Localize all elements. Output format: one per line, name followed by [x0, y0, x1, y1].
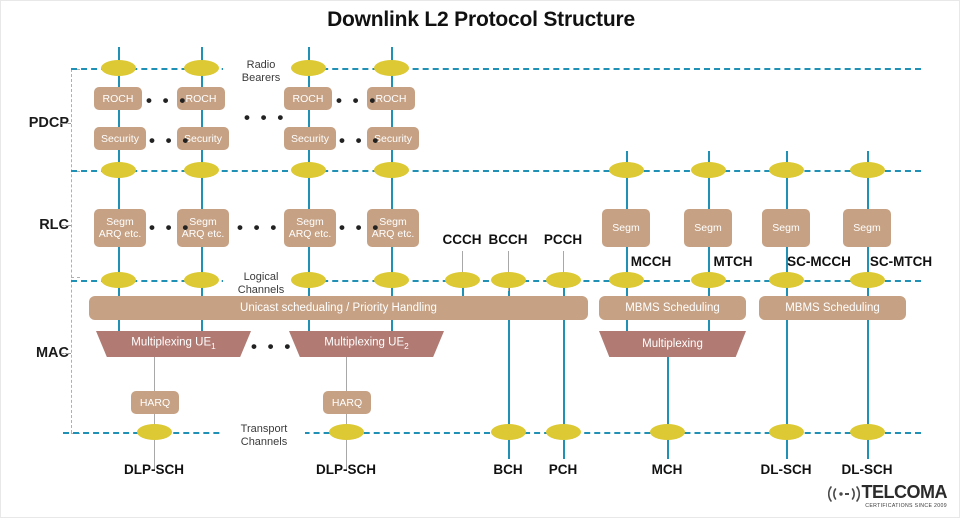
connector-line	[667, 357, 669, 433]
ellipsis-roch-ue2: • • •	[336, 96, 378, 106]
connector-line	[201, 109, 203, 127]
sap-logical-channel	[184, 272, 219, 288]
layer-label-rlc: RLC	[9, 217, 69, 233]
sap-radio-bearer	[374, 60, 409, 76]
rlc-segm-box: Segm	[684, 209, 732, 247]
layer-tick-mac	[61, 353, 71, 354]
logical-channel-label-mtch: MTCH	[703, 254, 763, 269]
ellipsis-mac-between-ues: • • •	[251, 342, 293, 352]
sap-transport-channel	[546, 424, 581, 440]
transport-channel-label-mch: MCH	[637, 462, 697, 477]
logical-channel-label-pcch: PCCH	[533, 232, 593, 247]
connector-line	[867, 313, 869, 433]
pdcp-roch-box: ROCH	[284, 87, 332, 110]
rlc-segm-line2: ARQ etc.	[99, 228, 142, 240]
connector-line	[201, 149, 203, 209]
interface-label-line2: Bearers	[242, 72, 281, 84]
sap-logical-channel	[691, 272, 726, 288]
rlc-segm-arq-box: Segm ARQ etc.	[284, 209, 336, 247]
mac-mbms-scheduling-bar: MBMS Scheduling	[759, 296, 906, 320]
pdcp-security-box: Security	[94, 127, 146, 150]
rlc-segm-line1: Segm	[379, 216, 406, 228]
sap-transport-channel	[650, 424, 685, 440]
sap-pdcp-rlc	[374, 162, 409, 178]
ellipsis-security-ue1: • • •	[149, 136, 191, 146]
logo-brand: TELCOMA	[862, 482, 948, 502]
transport-channel-label-dlp-sch: DLP-SCH	[114, 462, 194, 477]
rlc-segm-line1: Segm	[296, 216, 323, 228]
transport-channel-label-dl-sch: DL-SCH	[827, 462, 907, 477]
interface-label-line2: Channels	[238, 284, 284, 296]
interface-label-line1: Logical	[244, 271, 279, 283]
signal-wave-icon	[828, 484, 860, 509]
transport-channel-label-dlp-sch: DLP-SCH	[306, 462, 386, 477]
logo-tagline: CERTIFICATIONS SINCE 2009	[862, 503, 948, 509]
rlc-segm-arq-box: Segm ARQ etc.	[94, 209, 146, 247]
connector-line	[118, 109, 120, 127]
pdcp-roch-box: ROCH	[94, 87, 142, 110]
sap-pdcp-rlc	[291, 162, 326, 178]
interface-label-line2: Channels	[241, 436, 287, 448]
sap-radio-bearer	[101, 60, 136, 76]
connector-line-gray	[154, 357, 155, 393]
connector-line	[626, 151, 628, 209]
logical-channel-label-bcch: BCCH	[478, 232, 538, 247]
transport-channel-label-bch: BCH	[478, 462, 538, 477]
sap-logical-channel	[609, 272, 644, 288]
multiplexing-ue2-label: Multiplexing UE	[324, 337, 404, 349]
sap-logical-channel	[101, 272, 136, 288]
layer-tick-pdcp	[61, 123, 71, 124]
rlc-segm-line1: Segm	[106, 216, 133, 228]
layer-bracket-nub-rlc-mac	[71, 277, 80, 278]
rlc-segm-box: Segm	[843, 209, 891, 247]
transport-channel-label-pch: PCH	[533, 462, 593, 477]
connector-line	[391, 149, 393, 209]
layer-label-pdcp: PDCP	[9, 115, 69, 131]
sap-radio-bearer	[184, 60, 219, 76]
interface-label-line1: Radio	[247, 59, 276, 71]
logical-channel-label-sc-mtch: SC-MTCH	[861, 254, 941, 269]
interface-label-logical-channels: Logical Channels	[223, 271, 299, 296]
mac-multiplexing-ue1: Multiplexing UE1	[96, 331, 251, 357]
multiplexing-ue1-label: Multiplexing UE	[131, 337, 211, 349]
sap-logical-channel	[850, 272, 885, 288]
multiplexing-mbms-label: Multiplexing	[642, 338, 703, 350]
sap-radio-bearer	[291, 60, 326, 76]
telcoma-logo: TELCOMA CERTIFICATIONS SINCE 2009	[828, 484, 948, 509]
transport-channel-label-dl-sch: DL-SCH	[746, 462, 826, 477]
sap-pdcp-rlc	[769, 162, 804, 178]
mac-mbms-scheduling-bar: MBMS Scheduling	[599, 296, 746, 320]
sap-transport-channel	[329, 424, 364, 440]
sap-pdcp-rlc	[184, 162, 219, 178]
rlc-segm-line2: ARQ etc.	[289, 228, 332, 240]
mac-harq-box: HARQ	[323, 391, 371, 414]
ellipsis-roch-ue1: • • •	[146, 96, 188, 106]
sap-pdcp-rlc	[691, 162, 726, 178]
connector-line	[308, 109, 310, 127]
connector-line	[563, 313, 565, 433]
page-title: Downlink L2 Protocol Structure	[1, 8, 960, 32]
sap-logical-channel	[445, 272, 480, 288]
mac-multiplexing-ue2: Multiplexing UE2	[289, 331, 444, 357]
ellipsis-rlc-ue2: • • •	[339, 223, 381, 233]
sap-logical-channel	[546, 272, 581, 288]
sap-pdcp-rlc	[609, 162, 644, 178]
rlc-segm-line1: Segm	[189, 216, 216, 228]
connector-line	[118, 149, 120, 209]
interface-label-radio-bearers: Radio Bearers	[223, 59, 299, 84]
connector-line	[786, 313, 788, 433]
layer-label-mac: MAC	[9, 345, 69, 361]
sap-logical-channel	[374, 272, 409, 288]
pdcp-security-box: Security	[284, 127, 336, 150]
rlc-segm-box: Segm	[762, 209, 810, 247]
interface-label-transport-channels: Transport Channels	[223, 423, 305, 448]
connector-line	[708, 151, 710, 209]
sap-transport-channel	[137, 424, 172, 440]
ellipsis-rlc-between-ues: • • •	[237, 223, 279, 233]
sap-pdcp-rlc	[850, 162, 885, 178]
diagram-canvas: Downlink L2 Protocol Structure PDCP RLC …	[0, 0, 960, 518]
sap-transport-channel	[769, 424, 804, 440]
sap-pdcp-rlc	[101, 162, 136, 178]
ellipsis-security-ue2: • • •	[339, 136, 381, 146]
sap-logical-channel	[291, 272, 326, 288]
logical-channel-label-mcch: MCCH	[621, 254, 681, 269]
connector-line-gray	[346, 357, 347, 393]
connector-line	[867, 151, 869, 209]
mac-unicast-scheduling-bar: Unicast schedualing / Priority Handling	[89, 296, 588, 320]
connector-line	[308, 149, 310, 209]
sap-logical-channel	[491, 272, 526, 288]
layer-tick-rlc	[61, 225, 71, 226]
sap-transport-channel	[850, 424, 885, 440]
mac-multiplexing-mbms: Multiplexing	[599, 331, 746, 357]
interface-label-line1: Transport	[241, 423, 288, 435]
ellipsis-pdcp-between-ues: • • •	[244, 113, 286, 123]
sap-transport-channel	[491, 424, 526, 440]
mac-harq-box: HARQ	[131, 391, 179, 414]
rlc-segm-box: Segm	[602, 209, 650, 247]
layer-bracket-line	[71, 69, 72, 433]
connector-line	[391, 109, 393, 127]
logical-channel-label-sc-mcch: SC-MCCH	[779, 254, 859, 269]
logo-text-block: TELCOMA CERTIFICATIONS SINCE 2009	[862, 484, 948, 509]
connector-line	[786, 151, 788, 209]
ellipsis-rlc-ue1: • • •	[149, 223, 191, 233]
connector-line	[508, 313, 510, 433]
multiplexing-ue1-subscript: 1	[211, 342, 216, 351]
sap-logical-channel	[769, 272, 804, 288]
multiplexing-ue2-subscript: 2	[404, 342, 409, 351]
